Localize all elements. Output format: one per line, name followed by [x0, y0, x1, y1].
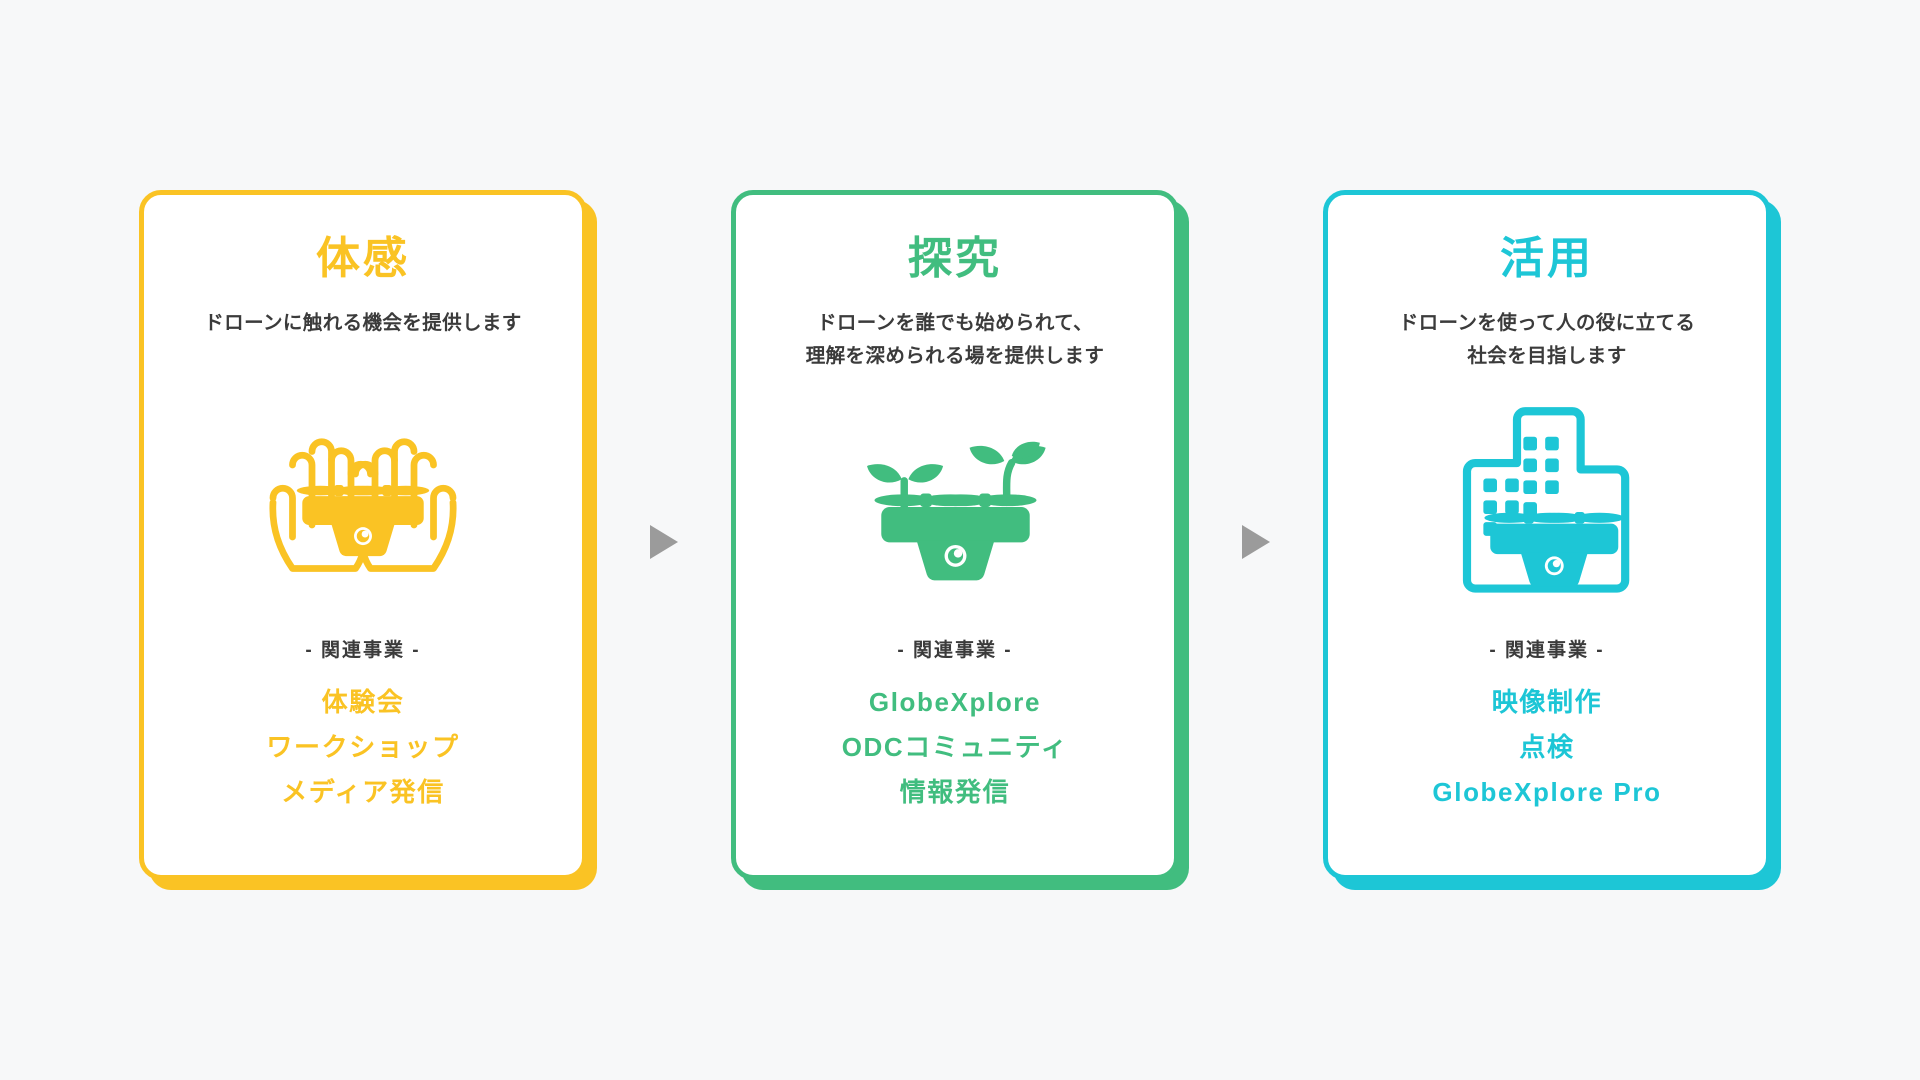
arrow-2: [1239, 523, 1273, 561]
flow-row: 体感ドローンに触れる機会を提供します: [0, 0, 1920, 1080]
related-service-list: 映像制作点検GlobeXplore Pro: [1432, 688, 1661, 808]
service-item[interactable]: 情報発信: [900, 778, 1010, 808]
pillar-card-taikan[interactable]: 体感ドローンに触れる機会を提供します: [139, 190, 597, 890]
service-item[interactable]: 映像制作: [1492, 688, 1602, 718]
card-body: 活用ドローンを使って人の役に立てる社会を目指します - 関連事業 -映像制作点検…: [1323, 190, 1771, 880]
pillar-card-katsuyou[interactable]: 活用ドローンを使って人の役に立てる社会を目指します - 関連事業 -映像制作点検…: [1323, 190, 1781, 890]
card-body: 体感ドローンに触れる機会を提供します: [139, 190, 587, 880]
card-description: ドローンを使って人の役に立てる社会を目指します: [1399, 307, 1696, 373]
service-item[interactable]: 点検: [1519, 733, 1574, 763]
card-title: 体感: [316, 237, 410, 281]
vision-flow-diagram: 体感ドローンに触れる機会を提供します: [0, 0, 1920, 1080]
play-triangle-right-icon: [647, 523, 681, 561]
card-description-line: 理解を深められる場を提供します: [806, 340, 1105, 373]
card-body: 探究ドローンを誰でも始められて、理解を深められる場を提供します - 関連事業 -…: [731, 190, 1179, 880]
service-item[interactable]: GlobeXplore Pro: [1432, 778, 1661, 808]
card-illustration: [848, 399, 1063, 609]
building-drone-icon: [1447, 404, 1647, 604]
related-business-label: - 関連事業 -: [1489, 635, 1604, 662]
play-triangle-right-icon: [1239, 523, 1273, 561]
service-item[interactable]: メディア発信: [281, 778, 445, 808]
card-description: ドローンを誰でも始められて、理解を深められる場を提供します: [806, 307, 1105, 373]
service-item[interactable]: ODCコミュニティ: [842, 733, 1069, 763]
card-description: ドローンに触れる機会を提供します: [204, 307, 521, 373]
related-business-label: - 関連事業 -: [897, 635, 1012, 662]
card-illustration: [258, 399, 468, 609]
card-description-line: ドローンに触れる機会を提供します: [204, 307, 521, 340]
service-item[interactable]: GlobeXplore: [869, 688, 1041, 718]
related-service-list: GlobeXploreODCコミュニティ情報発信: [842, 688, 1069, 808]
card-illustration: [1447, 399, 1647, 609]
card-description-line: ドローンを使って人の役に立てる: [1399, 307, 1696, 340]
hands-holding-drone-icon: [258, 404, 468, 604]
card-title: 活用: [1500, 237, 1594, 281]
card-title: 探究: [908, 237, 1002, 281]
card-description-line: ドローンを誰でも始められて、: [806, 307, 1105, 340]
sprout-drone-icon: [848, 409, 1063, 599]
arrow-1: [647, 523, 681, 561]
service-item[interactable]: 体験会: [322, 688, 405, 718]
service-item[interactable]: ワークショップ: [266, 733, 459, 763]
related-business-label: - 関連事業 -: [305, 635, 420, 662]
pillar-card-tankyu[interactable]: 探究ドローンを誰でも始められて、理解を深められる場を提供します - 関連事業 -…: [731, 190, 1189, 890]
related-service-list: 体験会ワークショップメディア発信: [266, 688, 459, 808]
card-description-line: 社会を目指します: [1399, 340, 1696, 373]
